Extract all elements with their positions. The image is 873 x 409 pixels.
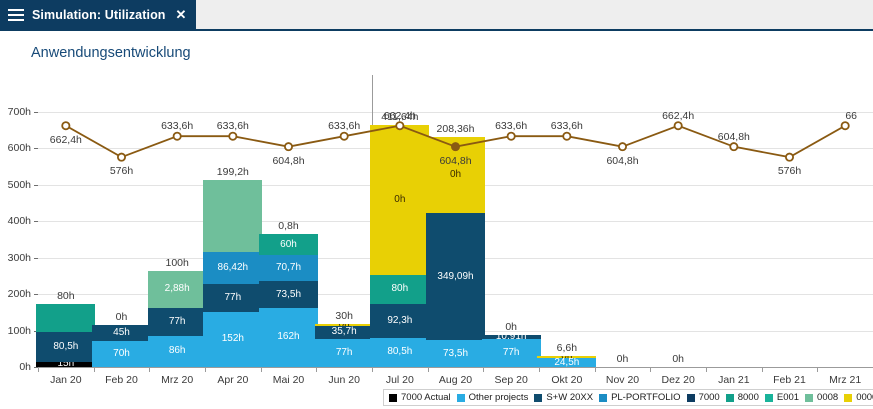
bar-segment-pl-portfolio[interactable]: 86,42h [203,252,262,283]
bar-segment-label: 70h [113,349,130,359]
bar-segment-label: 77h [224,293,241,303]
y-axis-label: 100h [8,325,31,337]
x-axis-label: Jan 21 [718,374,750,386]
bar-segment-label: 162h [277,332,299,342]
x-axis-tick [706,367,707,372]
legend-item[interactable]: 7000 [687,392,720,403]
bar-segment-other-projects[interactable]: 152h [203,312,262,367]
x-axis-label: Nov 20 [606,374,639,386]
close-icon[interactable]: ✕ [176,7,187,23]
bar-total-label: 30h [335,310,353,322]
line-point-label: 604,8h [606,155,638,167]
x-axis-label: Sep 20 [495,374,528,386]
legend-label: 0008 [817,392,838,403]
legend-swatch [844,394,852,402]
bar-segment-other-projects[interactable]: 80,5h [370,338,429,367]
bar-segment-label: 35,7h [332,327,357,337]
line-marker[interactable] [118,154,125,161]
legend-item[interactable]: 7000 Actual [389,392,451,403]
y-axis-label: 600h [8,142,31,154]
bar-segment-other-projects[interactable]: 86h [148,336,207,367]
bar-segment-s-w-20xx[interactable]: 73,5h [259,281,318,308]
bar-segment-other-projects[interactable]: 162h [259,308,318,367]
legend-item[interactable]: S+W 20XX [534,392,593,403]
line-point-label: 662,4h [50,134,82,146]
bar-total-label: 100h [165,257,188,269]
utilization-chart: 0h100h200h300h400h500h600h700hJan 20Feb … [0,31,873,409]
x-axis-tick [38,367,39,372]
line-point-label: 633,6h [328,120,360,132]
x-axis-label: Feb 20 [105,374,138,386]
tab-simulation-utilization[interactable]: Simulation: Utilization ✕ [0,0,196,29]
bar-segment-label: 73,5h [276,290,301,300]
bar-segment-label: 70,7h [276,263,301,273]
bar-segment-s-w-20xx[interactable]: 10,91h [482,335,541,339]
y-axis-tick [34,221,38,222]
chart-bar[interactable]: 162h73,5h70,7h60h [259,234,318,367]
legend-label: E001 [777,392,799,403]
bar-segment-8000[interactable]: 60h [259,234,318,256]
line-point-label: 662,4h [662,110,694,122]
bar-segment-000000[interactable]: 0h [426,137,485,213]
x-axis-label: Jun 20 [328,374,360,386]
bar-total-label: 6,6h [557,342,577,354]
tab-label: Simulation: Utilization [32,8,166,22]
line-marker[interactable] [842,122,849,129]
bar-segment-label: 73,5h [443,349,468,359]
bar-segment-s-w-20xx[interactable]: 77h [203,284,262,312]
chart-bar[interactable]: 15h80,5h [36,304,95,367]
bar-segment-s-w-20xx[interactable]: 92,3h [370,304,429,338]
bar-segment-8000[interactable] [36,304,95,332]
bar-segment-pl-portfolio[interactable]: 70,7h [259,255,318,281]
bar-segment-0008[interactable] [203,180,262,253]
x-axis-label: Jan 20 [50,374,82,386]
legend-item[interactable]: PL-PORTFOLIO [599,392,681,403]
bar-segment-label: 80,5h [53,342,78,352]
legend-label: 000000 [856,392,873,403]
bar-total-label: 0,8h [278,220,298,232]
bar-segment-label: 77h [336,348,353,358]
bar-total-label: 208,36h [437,123,475,135]
x-axis-label: Dez 20 [662,374,695,386]
bar-total-label: 0h [116,311,128,323]
line-marker[interactable] [786,154,793,161]
legend-item[interactable]: E001 [765,392,799,403]
bar-total-label: 80h [57,290,75,302]
legend-label: S+W 20XX [546,392,593,403]
bar-segment-label: 86,42h [218,263,249,273]
legend-label: 8000 [738,392,759,403]
bar-segment-s-w-20xx[interactable]: 45h [92,325,151,341]
x-axis-label: Mai 20 [273,374,305,386]
bar-segment-s-w-20xx[interactable]: 35,7h [315,326,374,339]
x-axis-tick [762,367,763,372]
bar-total-label: 199,2h [217,166,249,178]
hamburger-menu-icon[interactable] [8,9,24,21]
x-axis-tick [372,367,373,372]
line-marker[interactable] [508,133,515,140]
line-point-label: 633,6h [217,120,249,132]
bar-segment-other-projects[interactable]: 70h [92,341,151,367]
line-marker[interactable] [675,122,682,129]
bar-segment-0008[interactable]: 2,88h [148,271,207,307]
bar-segment-label: 0h [394,195,405,205]
bar-segment-label: 24,5h [554,358,579,367]
bar-segment-8000[interactable]: 80h [370,275,429,304]
x-axis-label: Apr 20 [217,374,248,386]
x-axis-tick [316,367,317,372]
chart-bar[interactable]: 70h45h [92,325,151,367]
x-axis-tick [483,367,484,372]
chart-bar[interactable]: 86h77h2,88h [148,271,207,367]
y-axis-label: 700h [8,106,31,118]
bar-segment-other-projects[interactable]: 77h [482,339,541,367]
chart-plot-area: 0h100h200h300h400h500h600h700hJan 20Feb … [38,112,873,367]
legend-swatch [457,394,465,402]
x-axis-label: Feb 21 [773,374,806,386]
bar-segment-label: 77h [503,348,520,358]
chart-bar[interactable]: 152h77h86,42h [203,180,262,367]
bar-segment-label: 77h [169,317,186,327]
y-axis-tick [34,148,38,149]
x-axis-tick [261,367,262,372]
legend-label: 7000 Actual [401,392,451,403]
x-axis-label: Mrz 21 [829,374,861,386]
gridline [38,112,873,113]
x-axis-tick [595,367,596,372]
chart-bar[interactable]: 24,5h0h [537,356,596,367]
line-point-label: 633,6h [495,120,527,132]
legend-swatch [599,394,607,402]
line-point-label: 633,6h [161,120,193,132]
line-point-label: 633,6h [551,120,583,132]
x-axis-tick [650,367,651,372]
bar-segment-label: 80,5h [387,347,412,357]
bar-segment-other-projects[interactable]: 24,5h [537,358,596,367]
y-axis-label: 200h [8,288,31,300]
chart-bar[interactable]: 77h10,91h [482,335,541,367]
chart-legend[interactable]: 7000 ActualOther projectsS+W 20XXPL-PORT… [383,389,873,406]
bar-total-label: 0h [505,321,517,333]
bar-segment-label: 45h [113,328,130,338]
line-marker[interactable] [341,133,348,140]
legend-swatch [726,394,734,402]
x-axis-tick [428,367,429,372]
line-marker[interactable] [229,133,236,140]
bar-segment-label: 0h [450,170,461,180]
line-point-label: 604,8h [718,131,750,143]
x-axis-tick [817,367,818,372]
bar-segment-label: 0h [339,324,350,325]
y-axis-label: 300h [8,252,31,264]
x-axis-label: Okt 20 [551,374,582,386]
x-axis-label: Mrz 20 [161,374,193,386]
bar-segment-000000[interactable]: 0h [537,356,596,358]
bar-segment-000000[interactable]: 0h [315,324,374,325]
bar-segment-label: 92,3h [387,316,412,326]
line-marker[interactable] [563,133,570,140]
legend-label: Other projects [469,392,529,403]
line-marker[interactable] [174,133,181,140]
x-axis-tick [149,367,150,372]
chart-bar[interactable]: 73,5h349,09h0h [426,137,485,367]
legend-item[interactable]: 000000 [844,392,873,403]
x-axis-tick [94,367,95,372]
legend-label: 7000 [699,392,720,403]
line-point-label: 604,8h [272,155,304,167]
bar-segment-label: 86h [169,346,186,356]
bar-segment-s-w-20xx[interactable]: 77h [148,308,207,336]
bar-segment-7000-actual[interactable]: 15h [36,362,95,367]
bar-segment-label: 15h [58,362,75,367]
legend-swatch [534,394,542,402]
legend-item[interactable]: 0008 [805,392,838,403]
y-axis-label: 500h [8,179,31,191]
bar-segment-label: 0h [561,356,572,358]
bar-segment-label: 2,88h [165,284,190,294]
x-axis-label: Aug 20 [439,374,472,386]
x-axis-label: Jul 20 [386,374,414,386]
y-axis-tick [34,258,38,259]
bar-segment-label: 349,09h [437,272,473,282]
line-point-label: 66 [845,110,857,122]
bar-segment-label: 60h [280,240,297,250]
bar-total-label: 0h [672,353,684,365]
line-point-label: 604,8h [439,155,471,167]
y-axis-label: 400h [8,215,31,227]
line-marker[interactable] [62,122,69,129]
x-axis-tick [205,367,206,372]
x-axis-tick [539,367,540,372]
bar-segment-other-projects[interactable]: 77h [315,339,374,367]
chart-bar[interactable]: 80,5h92,3h80h0h [370,125,429,367]
bar-segment-label: 80h [391,284,408,294]
legend-swatch [687,394,695,402]
window-title-bar: Simulation: Utilization ✕ [0,0,873,29]
gridline [38,367,873,368]
bar-segment-other-projects[interactable]: 73,5h [426,340,485,367]
bar-segment-s-w-20xx[interactable]: 80,5h [36,332,95,361]
y-axis-tick [34,112,38,113]
bar-segment-s-w-20xx[interactable]: 349,09h [426,213,485,340]
line-point-label: 576h [778,165,801,177]
legend-label: PL-PORTFOLIO [611,392,681,403]
legend-swatch [765,394,773,402]
chart-bar[interactable]: 77h35,7h0h [315,324,374,367]
y-axis-tick [34,294,38,295]
line-point-label: 662,4h [384,110,416,122]
legend-item[interactable]: 8000 [726,392,759,403]
legend-item[interactable]: Other projects [457,392,529,403]
bar-segment-label: 10,91h [496,335,527,339]
legend-swatch [389,394,397,402]
y-axis-tick [34,185,38,186]
content-panel: Anwendungsentwicklung 0h100h200h300h400h… [0,31,873,409]
y-axis-label: 0h [19,361,31,373]
line-point-label: 576h [110,165,133,177]
bar-total-label: 0h [617,353,629,365]
bar-segment-000000[interactable]: 0h [370,125,429,275]
legend-swatch [805,394,813,402]
bar-segment-label: 152h [222,334,244,344]
